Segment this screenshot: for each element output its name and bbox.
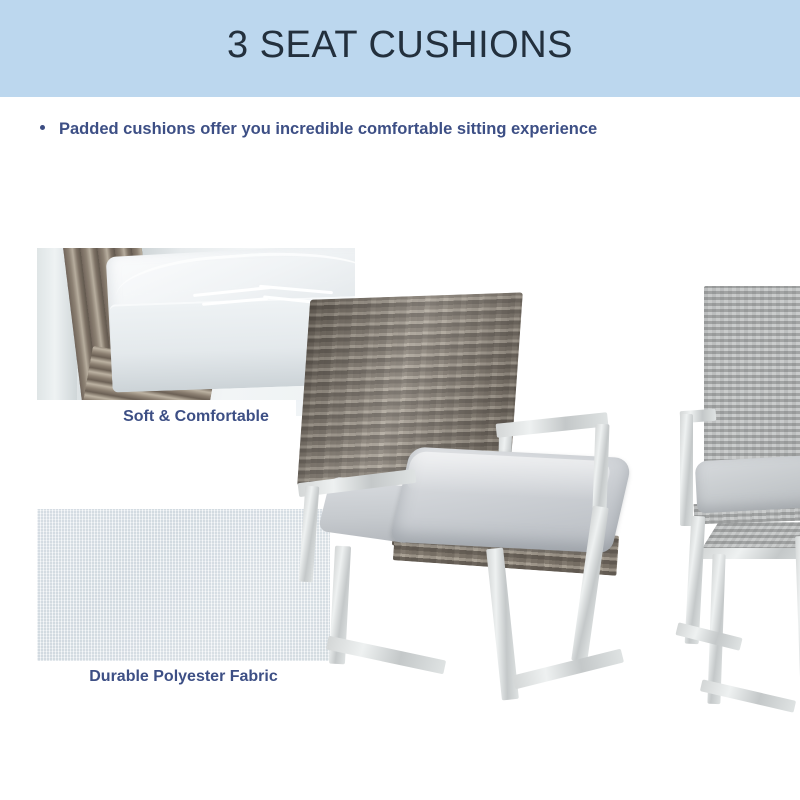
fabric-weave-texture	[37, 509, 330, 661]
main-chair-product-image	[296, 296, 626, 716]
secondary-chair-seat-cushion	[695, 455, 800, 514]
chair-arm-post-left	[299, 486, 320, 583]
chair-arm-front-post-right	[593, 424, 610, 510]
fabric-swatch-photo	[37, 509, 330, 661]
page-title: 3 SEAT CUSHIONS	[0, 24, 800, 67]
header-banner: 3 SEAT CUSHIONS	[0, 0, 800, 97]
bullet-dot-icon	[40, 125, 45, 130]
product-feature-page: 3 SEAT CUSHIONS Padded cushions offer yo…	[0, 0, 800, 800]
inset-photo-durable-polyester-fabric	[37, 509, 330, 661]
chair-sled-base-right	[512, 649, 624, 690]
secondary-chair-arm-post	[680, 414, 693, 526]
secondary-chair-product-image	[652, 286, 800, 706]
feature-bullet-text: Padded cushions offer you incredible com…	[59, 120, 597, 139]
side-table-leg-right	[795, 536, 800, 704]
inset-caption-durable-polyester-fabric: Durable Polyester Fabric	[37, 668, 330, 686]
feature-bullet-row: Padded cushions offer you incredible com…	[40, 120, 597, 139]
